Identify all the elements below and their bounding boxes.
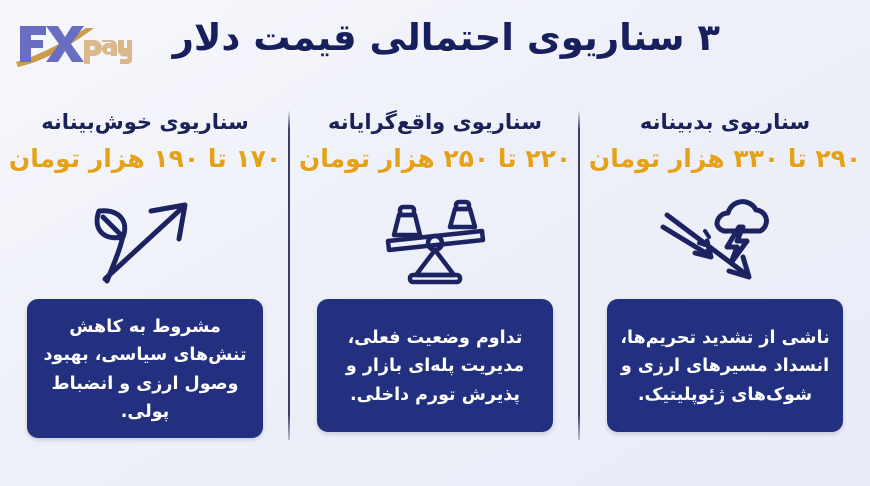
- storm-cloud-down-arrow-icon: [655, 187, 795, 291]
- scenario-column-realistic: سناریوی واقع‌گرایانه ۲۲۰ تا ۲۵۰ هزار توم…: [290, 96, 580, 456]
- scenario-title-optimistic: سناریوی خوش‌بینانه: [41, 110, 249, 134]
- scenario-range-pessimistic: ۲۹۰ تا ۳۳۰ هزار تومان: [589, 144, 861, 173]
- scenario-range-realistic: ۲۲۰ تا ۲۵۰ هزار تومان: [299, 144, 571, 173]
- column-divider-right: [578, 110, 580, 440]
- infographic-header: ۳ سناریوی احتمالی قیمت دلار FX pay: [0, 0, 870, 92]
- logo-letter-x: [46, 26, 84, 62]
- scenario-description-card-realistic: تداوم وضعیت فعلی، مدیریت پله‌ای بازار و …: [317, 299, 553, 432]
- scenario-column-pessimistic: سناریوی بدبینانه ۲۹۰ تا ۳۳۰ هزار تومان ن…: [580, 96, 870, 456]
- page-title: ۳ سناریوی احتمالی قیمت دلار: [173, 16, 720, 59]
- scenario-range-optimistic: ۱۷۰ تا ۱۹۰ هزار تومان: [9, 144, 281, 173]
- fxpay-logo: FX pay: [12, 18, 132, 70]
- scenario-description-optimistic: مشروط به کاهش تنش‌های سیاسی، بهبود وصول …: [39, 313, 251, 426]
- scenario-column-optimistic: سناریوی خوش‌بینانه ۱۷۰ تا ۱۹۰ هزار تومان…: [0, 96, 290, 456]
- scenario-title-realistic: سناریوی واقع‌گرایانه: [328, 110, 542, 134]
- logo-letter-p: [84, 40, 102, 64]
- scenarios-container: سناریوی بدبینانه ۲۹۰ تا ۳۳۰ هزار تومان ن…: [0, 96, 870, 456]
- logo-letter-y: [118, 40, 132, 64]
- scenario-title-pessimistic: سناریوی بدبینانه: [640, 110, 810, 134]
- scenario-description-realistic: تداوم وضعیت فعلی، مدیریت پله‌ای بازار و …: [329, 324, 541, 409]
- growth-leaf-arrow-icon: [85, 187, 205, 291]
- scenario-description-card-optimistic: مشروط به کاهش تنش‌های سیاسی، بهبود وصول …: [27, 299, 263, 438]
- column-divider-left: [288, 110, 290, 440]
- scenario-description-card-pessimistic: ناشی از تشدید تحریم‌ها، انسداد مسیرهای ا…: [607, 299, 843, 432]
- balance-scale-icon: [370, 187, 500, 291]
- logo-letter-a: [102, 40, 117, 56]
- scenario-description-pessimistic: ناشی از تشدید تحریم‌ها، انسداد مسیرهای ا…: [619, 324, 831, 409]
